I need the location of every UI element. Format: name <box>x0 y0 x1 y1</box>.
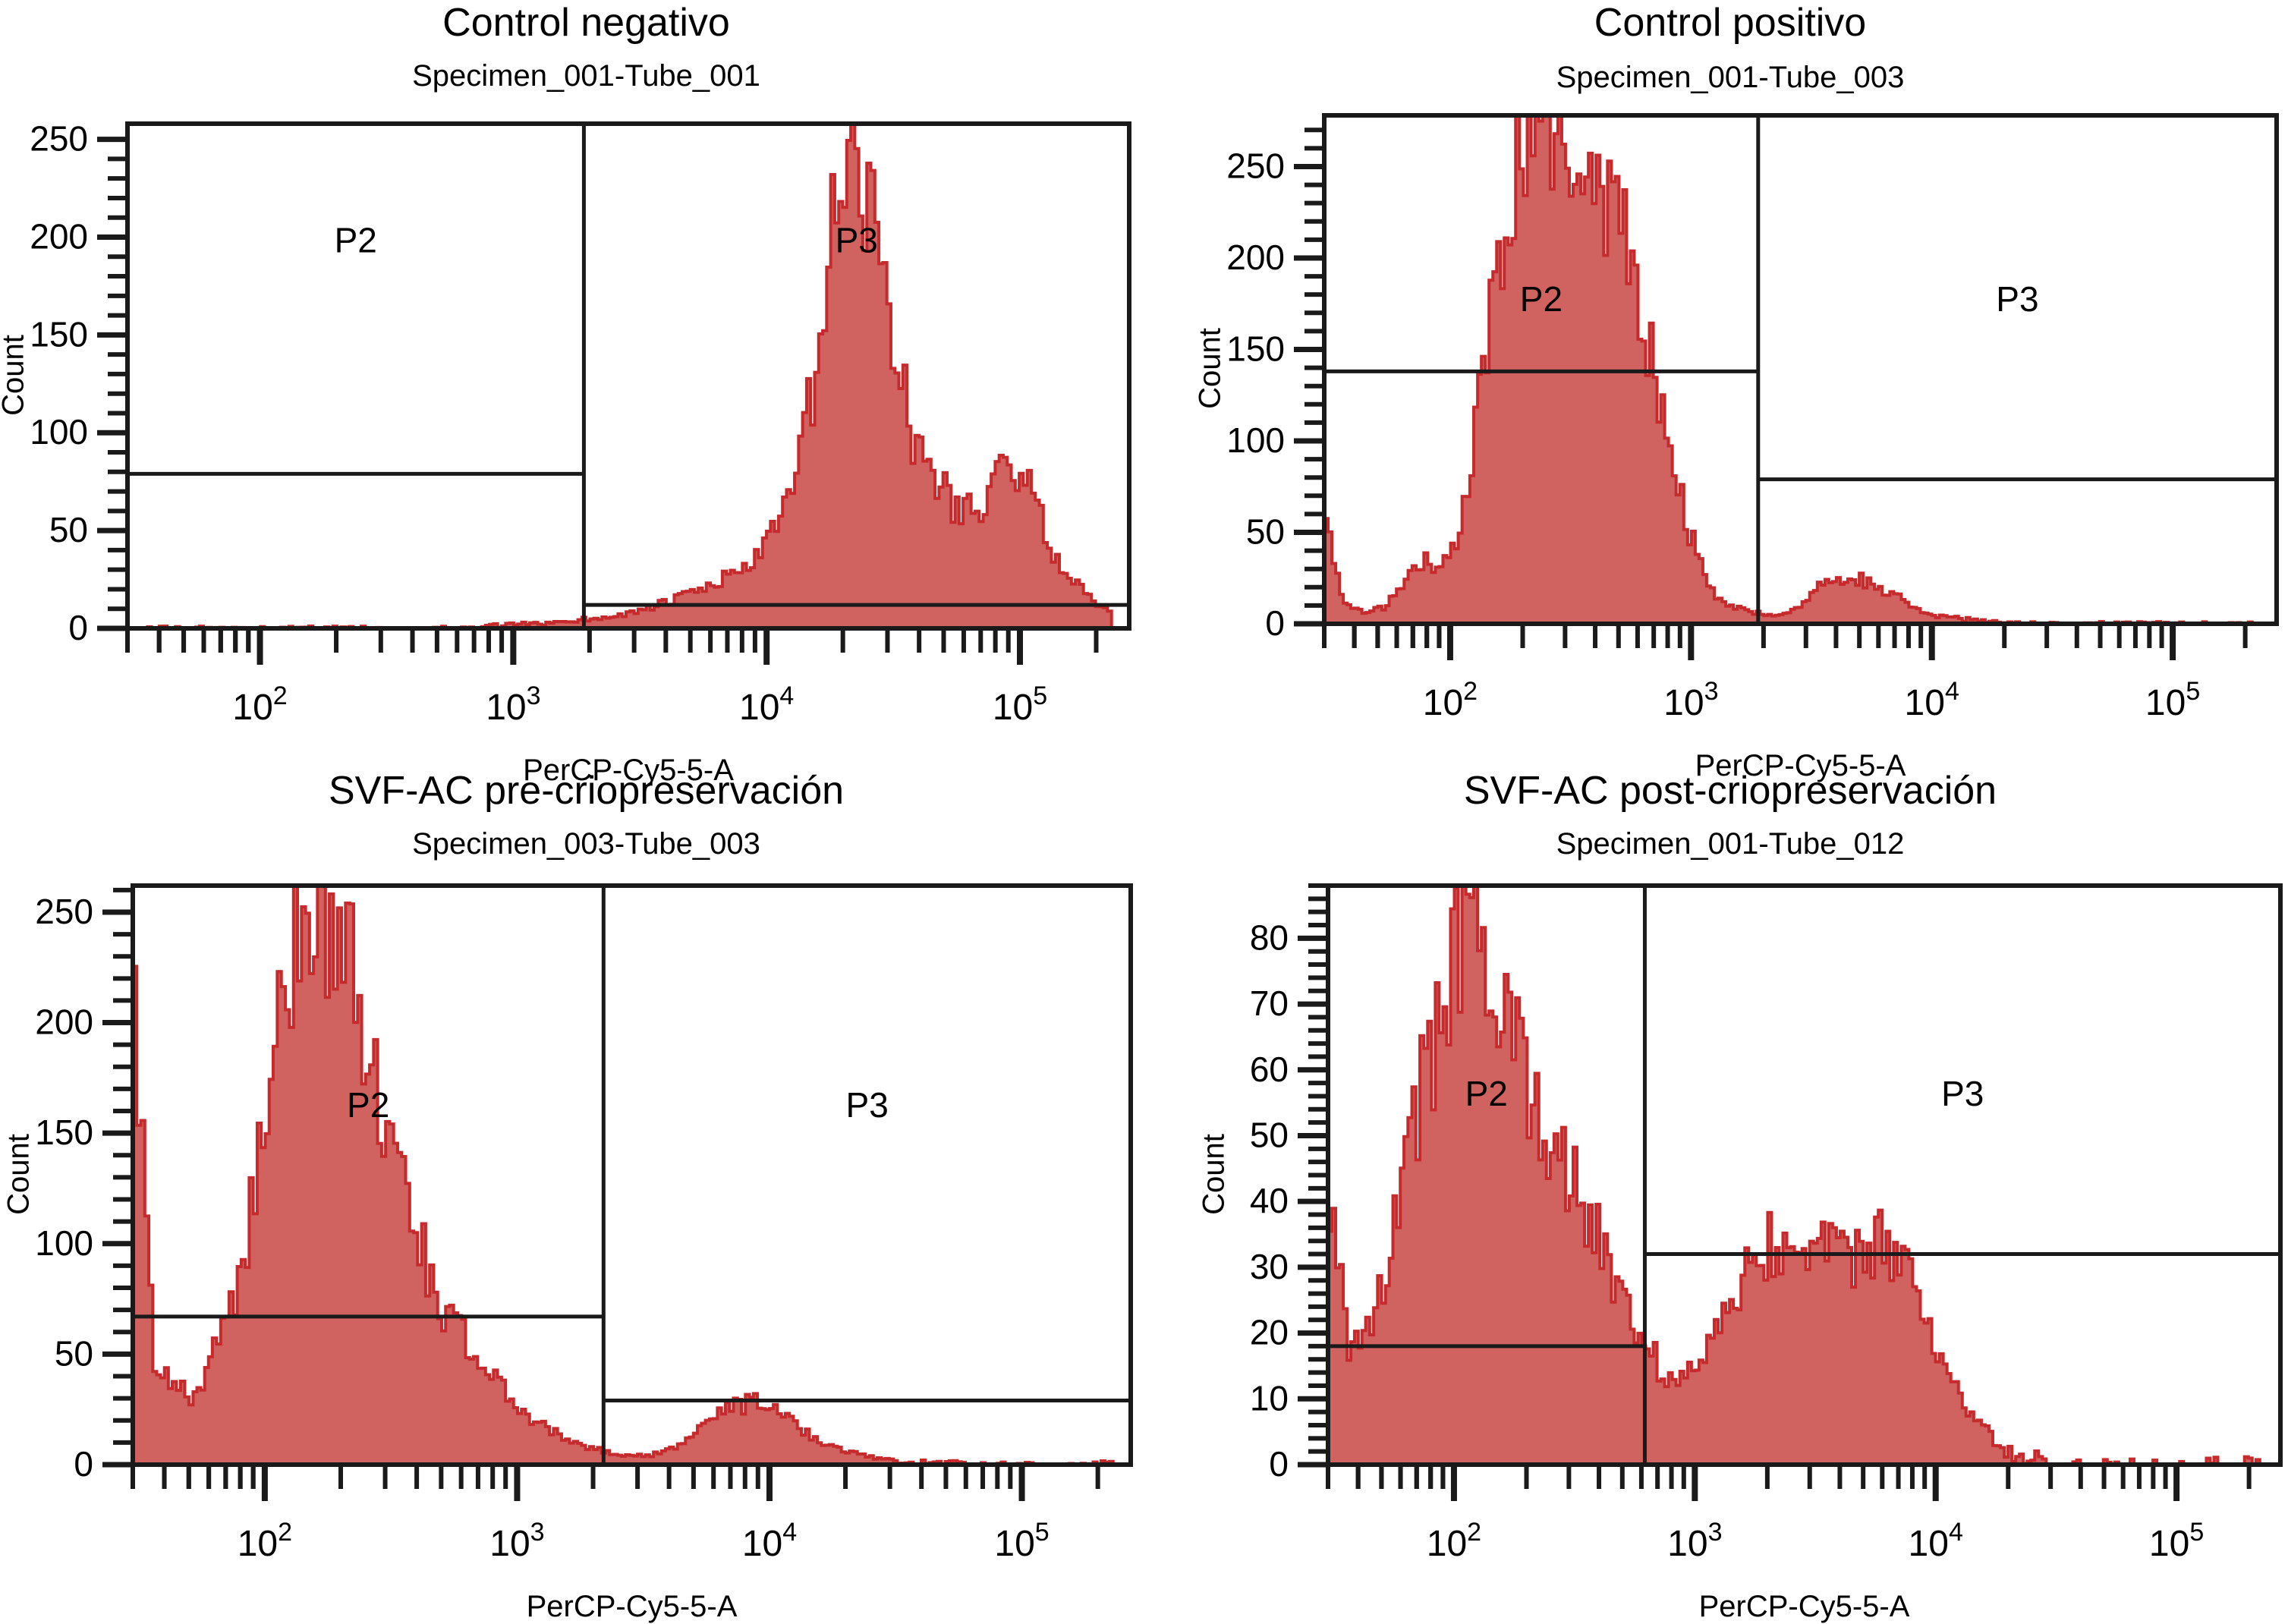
y-axis-label: Count <box>1198 1060 1232 1288</box>
y-tick-label: 60 <box>1250 1050 1289 1089</box>
gate-label-p3: P3 <box>846 1085 889 1125</box>
plot-area-svf-ac-pre: 050100150200250102103104105P2P3 <box>19 875 1141 1605</box>
y-tick-label: 10 <box>1250 1378 1289 1418</box>
x-tick-label: 105 <box>994 1518 1049 1564</box>
y-axis-label: Count <box>2 1060 36 1288</box>
panel-title: SVF-AC pre-criopreservación <box>0 768 1172 814</box>
x-tick-label: 103 <box>489 1518 544 1564</box>
y-tick-label: 80 <box>1250 917 1289 957</box>
panel-title: SVF-AC post-criopreservación <box>1172 768 2288 814</box>
flow-cytometry-figure: Control negativoSpecimen_001-Tube_001050… <box>0 0 2288 1522</box>
panel-svf-ac-post: SVF-AC post-criopreservaciónSpecimen_001… <box>1172 0 2288 1522</box>
x-tick-label: 102 <box>1427 1518 1481 1564</box>
y-tick-label: 50 <box>55 1333 93 1373</box>
x-tick-label: 104 <box>1909 1518 1963 1564</box>
x-tick-label: 105 <box>2149 1518 2204 1564</box>
y-tick-label: 40 <box>1250 1181 1289 1220</box>
gate-label-p2: P2 <box>1465 1074 1508 1113</box>
y-tick-label: 150 <box>35 1113 93 1152</box>
x-axis-label: PerCP-Cy5-5-A <box>133 1590 1131 1624</box>
panel-svf-ac-pre: SVF-AC pre-criopreservaciónSpecimen_003-… <box>0 0 1172 1522</box>
y-tick-label: 0 <box>74 1444 93 1484</box>
x-tick-label: 104 <box>742 1518 797 1564</box>
gate-label-p2: P2 <box>347 1085 389 1125</box>
x-tick-label: 103 <box>1667 1518 1722 1564</box>
x-tick-label: 102 <box>238 1518 292 1564</box>
x-axis-label: PerCP-Cy5-5-A <box>1328 1590 2280 1624</box>
gate-label-p3: P3 <box>1941 1074 1984 1113</box>
y-tick-label: 50 <box>1250 1115 1289 1154</box>
panel-subtitle: Specimen_003-Tube_003 <box>0 827 1172 861</box>
y-tick-label: 250 <box>35 892 93 931</box>
y-tick-label: 70 <box>1250 984 1289 1023</box>
panel-subtitle: Specimen_001-Tube_012 <box>1172 827 2288 861</box>
y-tick-label: 0 <box>1269 1444 1289 1484</box>
plot-area-svf-ac-post: 01020304050607080102103104105P2P3 <box>1214 875 2288 1605</box>
y-tick-label: 30 <box>1250 1247 1289 1286</box>
y-tick-label: 100 <box>35 1223 93 1263</box>
y-tick-label: 20 <box>1250 1313 1289 1352</box>
y-tick-label: 200 <box>35 1002 93 1042</box>
